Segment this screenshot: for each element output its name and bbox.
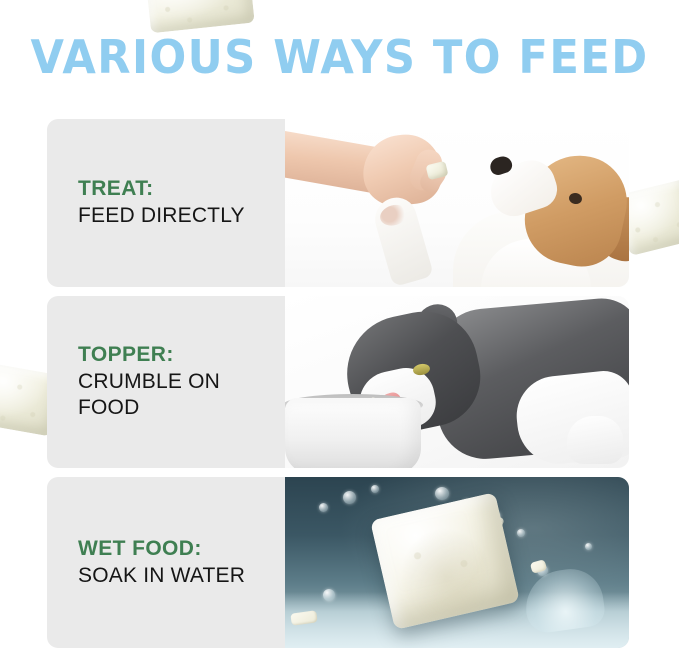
- hand-feeding-dog-photo: [285, 119, 629, 287]
- freeze-dried-cube-in-water-photo: [285, 477, 629, 648]
- feeding-methods-list: TREAT: FEED DIRECTLY TO: [47, 119, 629, 648]
- wet-food-kicker: WET FOOD:: [78, 536, 285, 563]
- wet-food-body: SOAK IN WATER: [78, 563, 285, 590]
- treat-text-panel: TREAT: FEED DIRECTLY: [47, 119, 285, 287]
- list-item-treat: TREAT: FEED DIRECTLY: [47, 119, 629, 287]
- topper-text-panel: TOPPER: CRUMBLE ON FOOD: [47, 296, 285, 468]
- list-item-topper: TOPPER: CRUMBLE ON FOOD: [47, 296, 629, 468]
- cat-eating-from-bowl-photo: [285, 296, 629, 468]
- infographic-page: VARIOUS WAYS TO FEED TREAT: FEED DIRECTL…: [0, 0, 679, 661]
- topper-body: CRUMBLE ON FOOD: [78, 369, 285, 423]
- list-item-wet-food: WET FOOD: SOAK IN WATER: [47, 477, 629, 648]
- topper-kicker: TOPPER:: [78, 342, 285, 369]
- product-piece-top-icon: [145, 0, 254, 33]
- treat-kicker: TREAT:: [78, 176, 285, 203]
- wet-food-text-panel: WET FOOD: SOAK IN WATER: [47, 477, 285, 648]
- page-title: VARIOUS WAYS TO FEED: [20, 34, 658, 80]
- treat-body: FEED DIRECTLY: [78, 203, 285, 230]
